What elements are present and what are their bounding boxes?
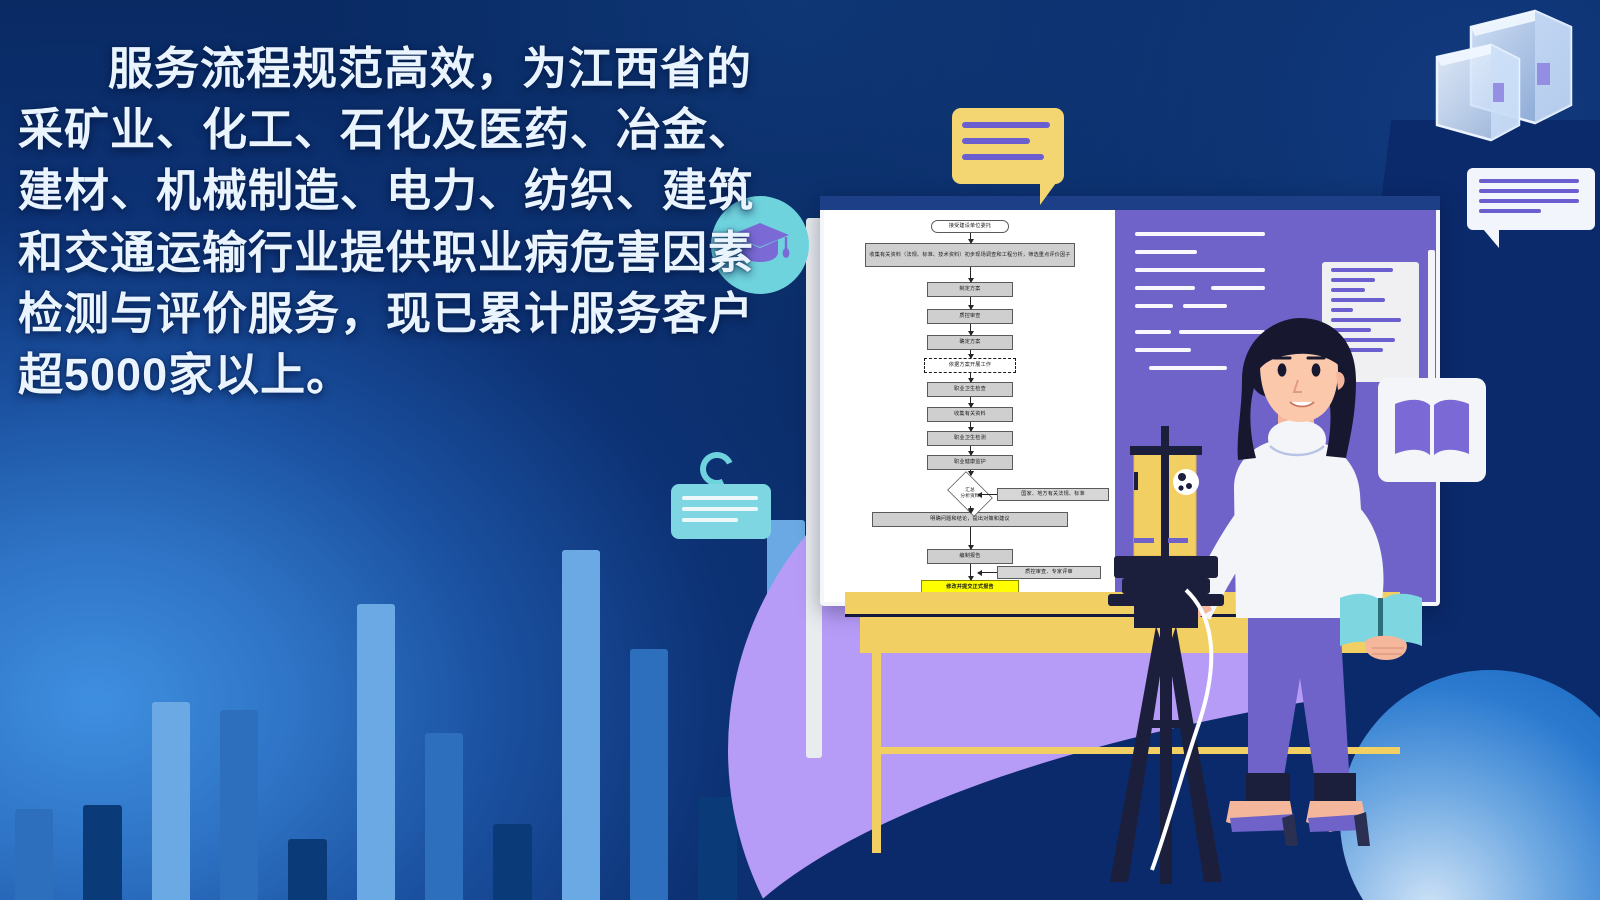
bubble-line [962, 154, 1044, 160]
flow-node-n10: 职业健康监护 [927, 455, 1013, 470]
flow-node-n2: 收集有关资料（法规、标准、技术资料）初步现场调查和工程分析，筛选重点评价因子 [865, 243, 1075, 267]
flow-arrow [970, 397, 971, 407]
board-top-bar [820, 196, 1440, 210]
bubble-line [962, 138, 1030, 144]
flow-node-n8: 收集有关资料 [927, 407, 1013, 422]
background-bar-chart [0, 480, 820, 900]
flow-arrow [970, 506, 971, 512]
flow-node-n4: 质控审查 [927, 309, 1013, 324]
flow-arrow [970, 422, 971, 431]
bar-1 [15, 809, 53, 900]
flow-arrow [970, 527, 971, 549]
flow-side-connector [978, 572, 997, 573]
speech-bubble-icon-yellow [952, 108, 1064, 184]
page-title: 服务流程规范高效，为江西省的采矿业、化工、石化及医药、冶金、建材、机械制造、电力… [18, 38, 778, 405]
bar-2 [83, 805, 121, 900]
bubble-line [1479, 179, 1579, 183]
flow-node-n1: 接受建设单位委托 [931, 220, 1009, 233]
flow-arrow [970, 297, 971, 309]
bar-4 [220, 710, 258, 900]
flow-node-n7: 职业卫生检查 [927, 382, 1013, 397]
flow-node-n13: 编制报告 [927, 549, 1013, 564]
flow-node-n6: 依据方案开展工作 [924, 358, 1016, 373]
note-line [682, 496, 758, 500]
flow-side-connector [978, 494, 997, 495]
bubble-line [1479, 189, 1579, 193]
flow-arrow [970, 267, 971, 282]
note-line [682, 507, 758, 511]
bar-8 [493, 824, 531, 900]
flow-arrow [970, 373, 971, 382]
poster-canvas: 服务流程规范高效，为江西省的采矿业、化工、石化及医药、冶金、建材、机械制造、电力… [0, 0, 1600, 900]
flow-arrow [970, 564, 971, 580]
flow-node-n12: 明确问题和结论，提出对策和建议 [872, 512, 1068, 527]
bar-11 [698, 797, 736, 900]
flow-arrow [970, 324, 971, 335]
books-icon [1385, 5, 1595, 180]
bar-9 [562, 550, 600, 900]
flow-arrow [970, 470, 971, 475]
note-card-icon-cyan [671, 484, 771, 539]
bar-10 [630, 649, 668, 900]
flow-arrow [970, 350, 971, 358]
flow-arrow [970, 233, 971, 243]
flow-node-n3: 制定方案 [927, 282, 1013, 297]
flow-node-n9: 职业卫生检测 [927, 431, 1013, 446]
bubble-line [962, 122, 1050, 128]
bar-7 [425, 733, 463, 900]
flow-node-n5: 确定方案 [927, 335, 1013, 350]
flow-side-note-s2: 质控审查、专家评审 [997, 566, 1101, 579]
bubble-line [1479, 199, 1579, 203]
headline-text: 服务流程规范高效，为江西省的采矿业、化工、石化及医药、冶金、建材、机械制造、电力… [18, 38, 778, 405]
bar-5 [288, 839, 326, 900]
process-flowchart: 接受建设单位委托收集有关资料（法规、标准、技术资料）初步现场调查和工程分析，筛选… [824, 210, 1115, 602]
flow-arrow [970, 446, 971, 455]
bubble-line [1479, 209, 1541, 213]
bar-6 [357, 604, 395, 900]
speech-bubble-icon-white [1467, 168, 1595, 230]
bar-3 [152, 702, 190, 900]
air-sampler-tripod [1090, 420, 1270, 890]
note-line [682, 518, 738, 522]
